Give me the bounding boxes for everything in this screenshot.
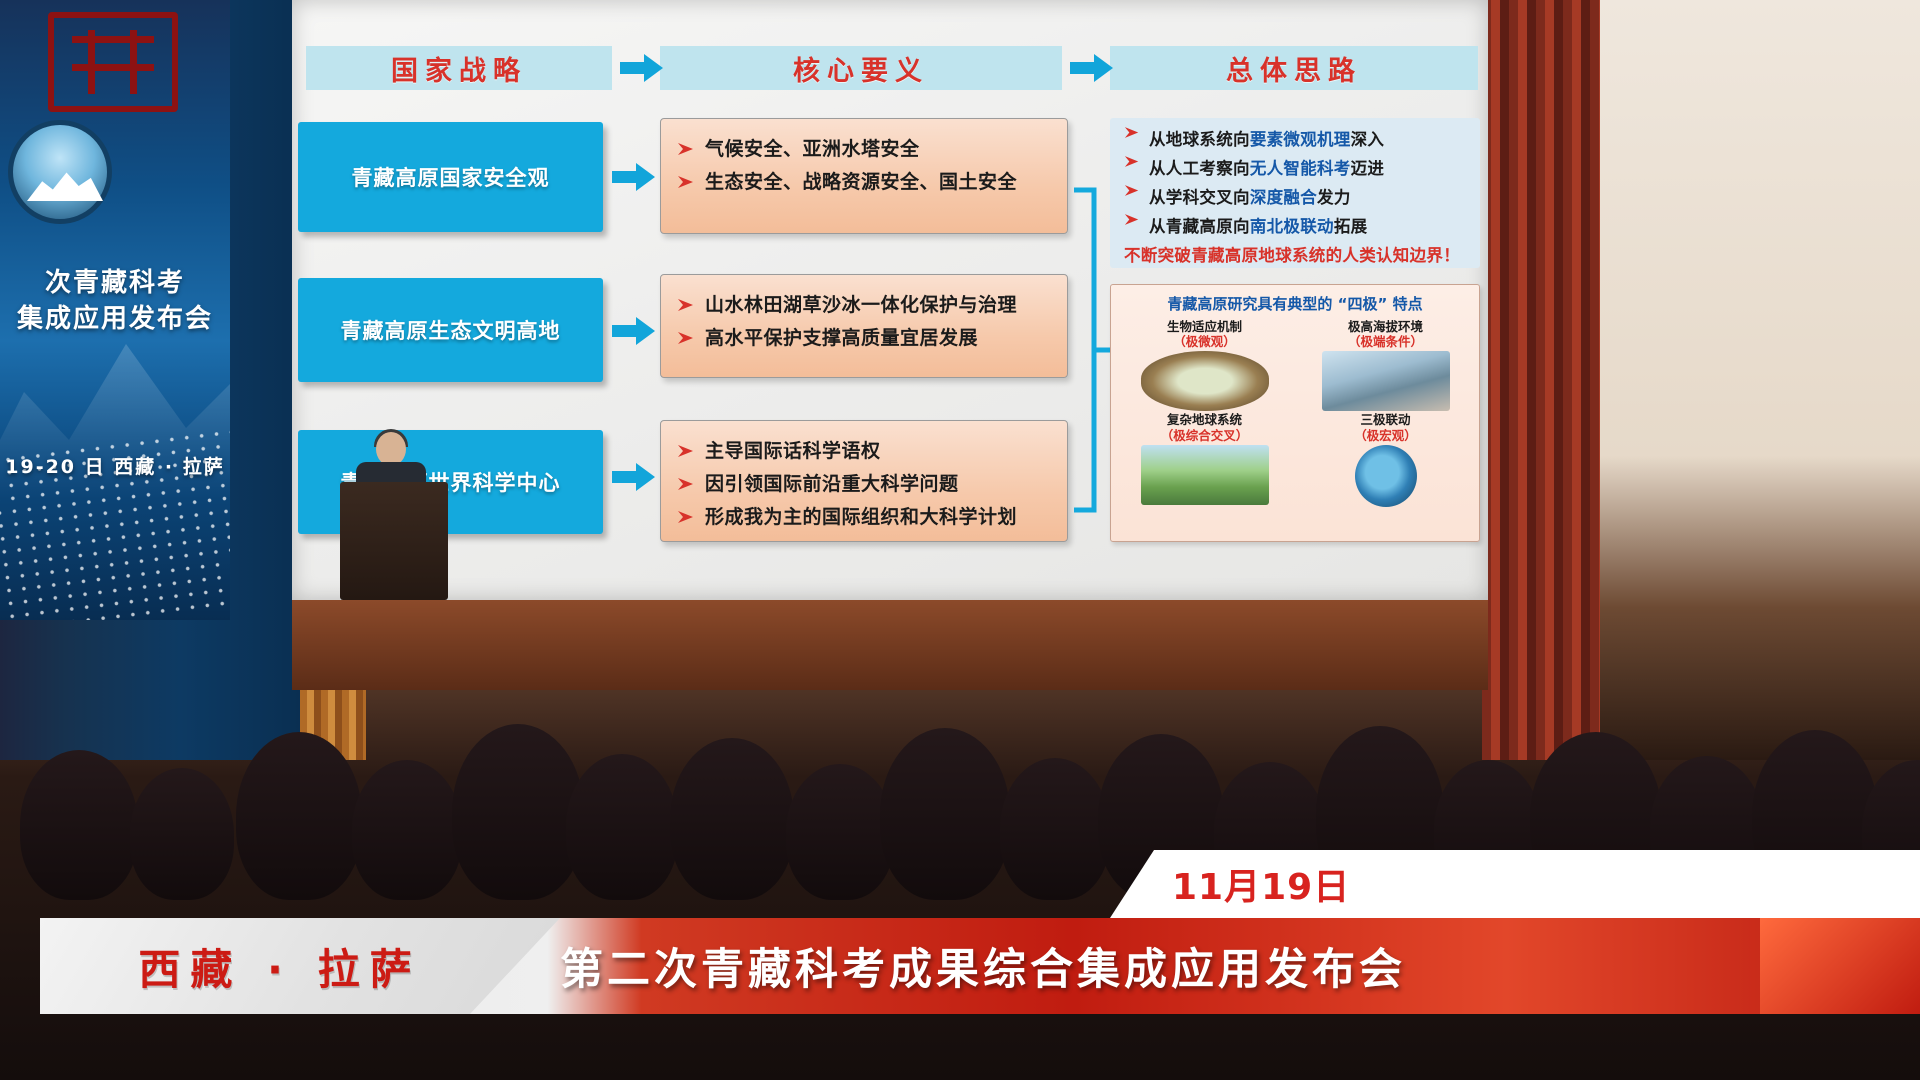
strategy-card-ecology-label: 青藏高原生态文明高地 bbox=[341, 315, 561, 345]
broadcast-frame: 次青藏科考 集成应用发布会 19-20 日 西藏 · 拉萨 国家战略 核心要义 … bbox=[0, 0, 1920, 1080]
bullet-text: 形成我为主的国际组织和大科学计划 bbox=[705, 506, 1017, 530]
bracket-connector bbox=[1072, 150, 1114, 550]
list-item: 从人工考察向无人智能科考迈进 bbox=[1124, 155, 1472, 179]
bullet-text: 高水平保护支撑高质量宜居发展 bbox=[705, 327, 978, 351]
banner-line-3: 19-20 日 西藏 · 拉萨 bbox=[0, 452, 230, 479]
chevron-right-icon bbox=[677, 142, 695, 156]
banner-line-1: 次青藏科考 bbox=[0, 262, 230, 299]
chevron-right-icon bbox=[1124, 155, 1140, 168]
quad-caption: 复杂地球系统 bbox=[1117, 413, 1292, 427]
bullet-item: 因引领国际前沿重大科学问题 bbox=[677, 473, 1057, 497]
bullet-item: 高水平保护支撑高质量宜居发展 bbox=[677, 327, 1057, 351]
chevron-right-icon bbox=[1124, 213, 1140, 226]
china-seal-logo-icon bbox=[48, 12, 178, 112]
overall-strategy-list: 从地球系统向要素微观机理深入 从人工考察向无人智能科考迈进 从学科交叉向深度融合… bbox=[1110, 118, 1480, 268]
column-header-core: 核心要义 bbox=[660, 46, 1062, 90]
column-header-strategy-label: 国家战略 bbox=[391, 49, 527, 88]
core-card-ecology: 山水林田湖草沙冰一体化保护与治理 高水平保护支撑高质量宜居发展 bbox=[660, 274, 1068, 378]
column-header-strategy: 国家战略 bbox=[306, 46, 612, 90]
chevron-right-icon bbox=[1124, 126, 1140, 139]
bullet-text: 主导国际话科学语权 bbox=[705, 440, 881, 464]
chevron-right-icon bbox=[677, 331, 695, 345]
four-poles-panel: 青藏高原研究具有典型的 “四极” 特点 生物适应机制 （极微观） 极高海拔环境 … bbox=[1110, 284, 1480, 542]
bullet-text: 山水林田湖草沙冰一体化保护与治理 bbox=[705, 294, 1017, 318]
quad-cell: 极高海拔环境 （极端条件） bbox=[1298, 320, 1473, 411]
bullet-item: 形成我为主的国际组织和大科学计划 bbox=[677, 506, 1057, 530]
list-item-text: 从地球系统向要素微观机理深入 bbox=[1149, 126, 1384, 150]
step-mountain-badge-icon bbox=[8, 120, 112, 224]
strategy-punchline: 不断突破青藏高原地球系统的人类认知边界！ bbox=[1124, 242, 1472, 266]
quad-caption: 生物适应机制 bbox=[1117, 320, 1292, 334]
soil-biome-image bbox=[1141, 351, 1269, 411]
bullet-text: 因引领国际前沿重大科学问题 bbox=[705, 473, 959, 497]
quad-subcaption: （极宏观） bbox=[1298, 428, 1473, 443]
quad-subcaption: （极微观） bbox=[1117, 334, 1292, 349]
bullet-text: 气候安全、亚洲水塔安全 bbox=[705, 138, 920, 162]
chevron-right-icon bbox=[677, 477, 695, 491]
column-header-core-label: 核心要义 bbox=[793, 49, 929, 88]
quad-caption: 三极联动 bbox=[1298, 413, 1473, 427]
quad-subcaption: （极端条件） bbox=[1298, 334, 1473, 349]
chevron-right-icon bbox=[677, 175, 695, 189]
bullet-item: 生态安全、战略资源安全、国土安全 bbox=[677, 171, 1057, 195]
banner-line-2: 集成应用发布会 bbox=[0, 298, 230, 335]
bullet-item: 主导国际话科学语权 bbox=[677, 440, 1057, 464]
bullet-text: 生态安全、战略资源安全、国土安全 bbox=[705, 171, 1017, 195]
chevron-right-icon bbox=[677, 298, 695, 312]
right-arrow-icon bbox=[612, 316, 656, 346]
quad-cell: 三极联动 （极宏观） bbox=[1298, 413, 1473, 506]
core-card-science: 主导国际话科学语权 因引领国际前沿重大科学问题 形成我为主的国际组织和大科学计划 bbox=[660, 420, 1068, 542]
chevron-right-icon bbox=[1124, 184, 1140, 197]
quad-cell: 生物适应机制 （极微观） bbox=[1117, 320, 1292, 411]
list-item-text: 从人工考察向无人智能科考迈进 bbox=[1149, 155, 1384, 179]
venue-banner: 次青藏科考 集成应用发布会 19-20 日 西藏 · 拉萨 bbox=[0, 0, 230, 620]
quad-subcaption: （极综合交叉） bbox=[1117, 428, 1292, 443]
chevron-right-icon bbox=[677, 444, 695, 458]
four-poles-title: 青藏高原研究具有典型的 “四极” 特点 bbox=[1117, 293, 1473, 314]
landscape-image bbox=[1141, 445, 1269, 505]
chevron-right-icon bbox=[677, 510, 695, 524]
column-header-overall-label: 总体思路 bbox=[1226, 49, 1362, 88]
list-item-text: 从学科交叉向深度融合发力 bbox=[1149, 184, 1351, 208]
strategy-card-security-label: 青藏高原国家安全观 bbox=[352, 162, 550, 192]
right-arrow-icon bbox=[620, 52, 664, 84]
right-arrow-icon bbox=[1070, 52, 1114, 84]
projection-screen: 国家战略 核心要义 总体思路 青藏高原国家安全观 青藏高原生态文明高地 青藏高原… bbox=[292, 0, 1488, 600]
snow-mountain-image bbox=[1322, 351, 1450, 411]
list-item: 从青藏高原向南北极联动拓展 bbox=[1124, 213, 1472, 237]
right-arrow-icon bbox=[612, 162, 656, 192]
list-item-text: 从青藏高原向南北极联动拓展 bbox=[1149, 213, 1367, 237]
right-arrow-icon bbox=[612, 462, 656, 492]
quad-cell: 复杂地球系统 （极综合交叉） bbox=[1117, 413, 1292, 506]
bullet-item: 气候安全、亚洲水塔安全 bbox=[677, 138, 1057, 162]
globe-image bbox=[1355, 445, 1417, 507]
list-item: 从地球系统向要素微观机理深入 bbox=[1124, 126, 1472, 150]
core-card-security: 气候安全、亚洲水塔安全 生态安全、战略资源安全、国土安全 bbox=[660, 118, 1068, 234]
strategy-card-security: 青藏高原国家安全观 bbox=[298, 122, 603, 232]
bullet-item: 山水林田湖草沙冰一体化保护与治理 bbox=[677, 294, 1057, 318]
audience-silhouettes bbox=[0, 560, 1920, 900]
column-header-overall: 总体思路 bbox=[1110, 46, 1478, 90]
strategy-card-ecology: 青藏高原生态文明高地 bbox=[298, 278, 603, 382]
quad-caption: 极高海拔环境 bbox=[1298, 320, 1473, 334]
list-item: 从学科交叉向深度融合发力 bbox=[1124, 184, 1472, 208]
